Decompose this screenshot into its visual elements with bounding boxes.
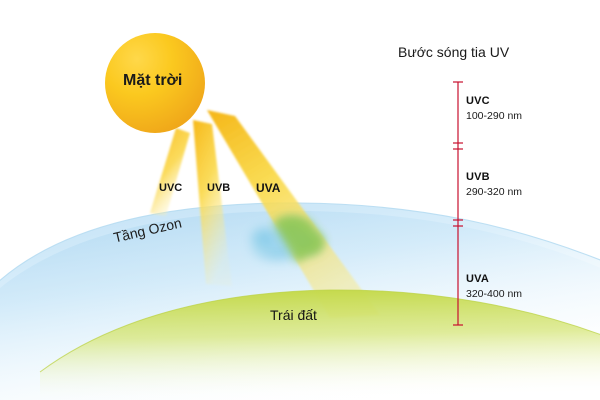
legend-band-name-uvb: UVB <box>466 171 490 183</box>
legend-band-name-uva: UVA <box>466 273 489 285</box>
legend-band-range-uvc: 100-290 nm <box>466 110 522 122</box>
legend-title: Bước sóng tia UV <box>398 44 509 60</box>
sun-label: Mặt trời <box>123 72 182 90</box>
ray-uvc <box>150 128 190 216</box>
diagram-artwork <box>0 0 600 400</box>
earth-layer-label: Trái đất <box>270 307 317 323</box>
legend-band-name-uvc: UVC <box>466 95 490 107</box>
legend-band-range-uva: 320-400 nm <box>466 288 522 300</box>
ray-label-uvb: UVB <box>207 182 230 194</box>
uv-radiation-diagram: Mặt trời UVC UVB UVA Tầng Ozon Trái đất … <box>0 0 600 400</box>
ray-label-uvc: UVC <box>159 182 182 194</box>
legend-band-range-uvb: 290-320 nm <box>466 186 522 198</box>
ray-label-uva: UVA <box>256 181 280 195</box>
